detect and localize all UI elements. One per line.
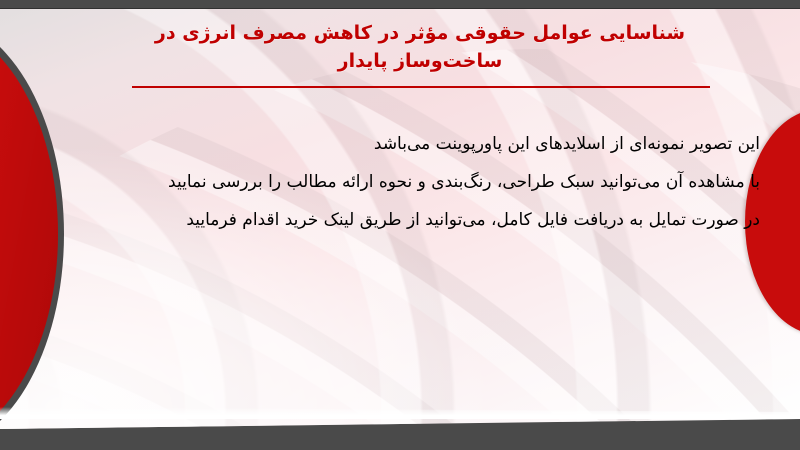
slide-title: شناسایی عوامل حقوقی مؤثر در کاهش مصرف ان… (110, 19, 730, 75)
panel-bottom-edge (0, 407, 800, 419)
title-line-1: شناسایی عوامل حقوقی مؤثر در کاهش مصرف ان… (110, 19, 730, 47)
background-ring-pattern (0, 49, 800, 429)
body-line-3: در صورت تمایل به دریافت فایل کامل، می‌تو… (60, 201, 760, 239)
title-line-2: ساخت‌وساز پایدار (110, 47, 730, 75)
presentation-slide: شناسایی عوامل حقوقی مؤثر در کاهش مصرف ان… (0, 0, 800, 450)
body-line-2: با مشاهده آن می‌توانید سبک طراحی، رنگ‌بن… (60, 163, 760, 201)
title-underline (132, 86, 710, 88)
slide-body-text: این تصویر نمونه‌ای از اسلایدهای این پاور… (60, 125, 760, 239)
slide-content-panel: شناسایی عوامل حقوقی مؤثر در کاهش مصرف ان… (0, 9, 800, 429)
body-line-1: این تصویر نمونه‌ای از اسلایدهای این پاور… (60, 125, 760, 163)
panel-top-edge-line (0, 8, 800, 9)
